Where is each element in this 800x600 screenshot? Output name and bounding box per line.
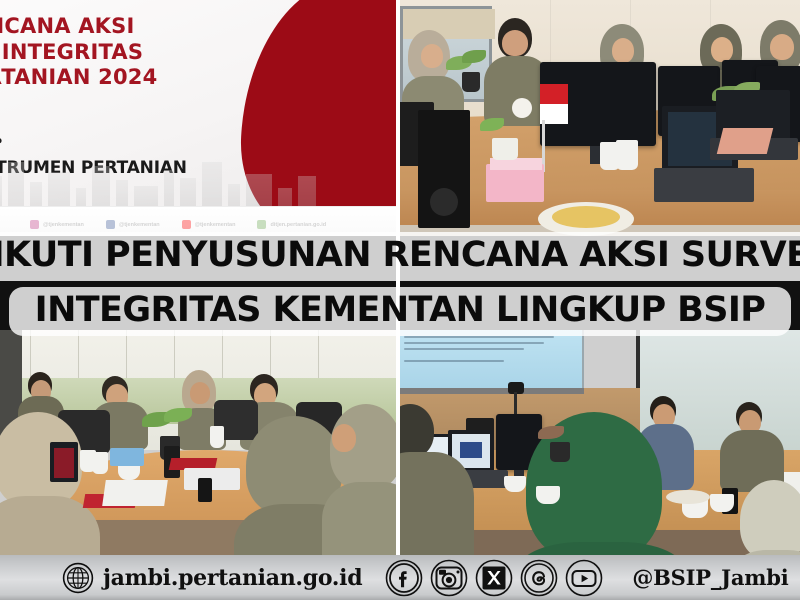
photo-top-right bbox=[400, 0, 800, 236]
slide-title: AN RENCANA AKSI ILAIAN INTEGRITAS AN PER… bbox=[0, 14, 334, 91]
website-group[interactable]: jambi.pertanian.go.id bbox=[62, 562, 362, 594]
slide-social-handle: ditjen.pertanian.go.id bbox=[270, 222, 326, 228]
facebook-icon[interactable] bbox=[384, 558, 424, 598]
tissue-box bbox=[110, 448, 144, 466]
globe-icon bbox=[62, 562, 94, 594]
photo-top-left: AN RENCANA AKSI ILAIAN INTEGRITAS AN PER… bbox=[0, 0, 396, 236]
facebook-icon bbox=[106, 220, 115, 229]
youtube-icon[interactable] bbox=[564, 558, 604, 598]
slide-social-item: @tjenkementan bbox=[182, 220, 236, 229]
x-twitter-icon[interactable] bbox=[474, 558, 514, 598]
social-icons-group bbox=[384, 558, 604, 598]
drinking-glass bbox=[210, 426, 224, 448]
slide-lingkup-label: LINGKUP bbox=[0, 136, 3, 149]
slide-title-line-2: ILAIAN INTEGRITAS bbox=[0, 40, 334, 66]
plant-pot bbox=[462, 72, 480, 92]
headline-banner: BI IKUTI PENYUSUNAN RENCANA AKSI SURVEI … bbox=[0, 232, 800, 336]
social-handle[interactable]: @BSIP_Jambi bbox=[632, 565, 788, 590]
slide-social-handle: @tjenkementan bbox=[119, 222, 160, 228]
slide-social-item: @tjenkementan bbox=[106, 220, 160, 229]
youtube-icon bbox=[182, 220, 191, 229]
headline-line-2-text: INTEGRITAS KEMENTAN LINGKUP BSIP bbox=[35, 290, 766, 330]
plant-pot bbox=[550, 442, 570, 462]
smartphone bbox=[198, 478, 212, 502]
slide-title-line-3: AN PERTANIAN 2024 bbox=[0, 65, 334, 91]
photo-bottom-left bbox=[0, 330, 396, 555]
notebook bbox=[184, 468, 240, 490]
coffee-cup bbox=[504, 476, 526, 492]
footer-bar: jambi.pertanian.go.id bbox=[0, 555, 800, 600]
document-paper bbox=[717, 128, 773, 154]
document-paper bbox=[102, 480, 168, 506]
drinking-glass bbox=[92, 452, 108, 474]
threads-icon[interactable] bbox=[519, 558, 559, 598]
laptop-keyboard bbox=[654, 168, 754, 202]
projector-screen bbox=[400, 330, 584, 392]
website-icon bbox=[257, 220, 266, 229]
slide-social-item: @tjenkementan bbox=[30, 220, 84, 229]
slide-skyline-graphic bbox=[0, 152, 396, 206]
headline-line-2: INTEGRITAS KEMENTAN LINGKUP BSIP bbox=[9, 287, 792, 336]
slide-title-line-1: AN RENCANA AKSI bbox=[0, 14, 334, 40]
drinking-cup bbox=[616, 140, 638, 170]
poster-root: AN RENCANA AKSI ILAIAN INTEGRITAS AN PER… bbox=[0, 0, 800, 600]
presentation-slide: AN RENCANA AKSI ILAIAN INTEGRITAS AN PER… bbox=[0, 0, 396, 236]
headline-line-1-text: BI IKUTI PENYUSUNAN RENCANA AKSI SURVEI … bbox=[0, 235, 800, 275]
coffee-cup bbox=[536, 486, 560, 504]
slide-social-handle: @tjenkementan bbox=[43, 222, 84, 228]
slide-social-strip: @tjenkementan @tjenkementan @tjenkementa… bbox=[30, 220, 326, 229]
food-plate bbox=[666, 490, 710, 504]
instagram-icon[interactable] bbox=[429, 558, 469, 598]
photo-bottom-right bbox=[400, 330, 800, 555]
slide-social-handle: @tjenkementan bbox=[195, 222, 236, 228]
coffee-cup bbox=[710, 494, 734, 512]
white-flower bbox=[512, 98, 532, 118]
slide-social-item: ditjen.pertanian.go.id bbox=[257, 220, 326, 229]
headline-line-1: BI IKUTI PENYUSUNAN RENCANA AKSI SURVEI … bbox=[0, 232, 800, 281]
instagram-icon bbox=[30, 220, 39, 229]
indonesia-flag bbox=[540, 84, 568, 124]
website-url[interactable]: jambi.pertanian.go.id bbox=[103, 565, 362, 591]
